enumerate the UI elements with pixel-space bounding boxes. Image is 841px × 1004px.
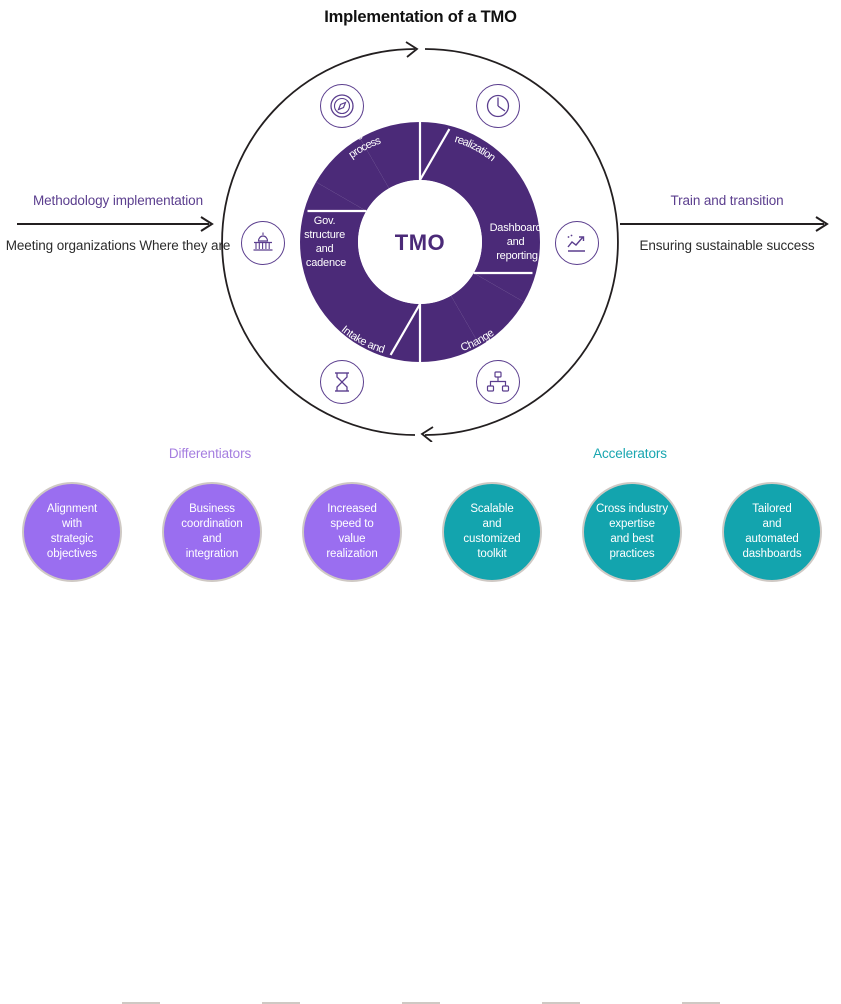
compass-icon [320, 84, 364, 128]
arrow-right-icon [3, 215, 233, 233]
left-flow-block: Methodology implementation Meeting organ… [3, 192, 233, 255]
right-flow-block: Train and transition Ensuring sustainabl… [612, 192, 841, 255]
bubble-business-coordination-and-integration[interactable]: Business coordination and integration [162, 482, 262, 582]
bubble-line: strategic [47, 532, 97, 547]
bubble-increased-speed-to-value-realization[interactable]: Increased speed to value realization [302, 482, 402, 582]
right-flow-heading: Train and transition [612, 192, 841, 210]
bubble-line: Cross industry [596, 502, 668, 517]
bubble-line: practices [596, 547, 668, 562]
bubble-line: expertise [596, 517, 668, 532]
left-flow-caption: Meeting organizations Where they are [3, 237, 233, 255]
bubble-line: dashboards [742, 547, 801, 562]
page-title: Implementation of a TMO [0, 8, 841, 27]
chart-trend-icon [555, 221, 599, 265]
bubble-line: and [742, 517, 801, 532]
bubble-tailored-and-automated-dashboards[interactable]: Tailored and automated dashboards [722, 482, 822, 582]
bubble-line: integration [181, 547, 242, 562]
clock-icon [476, 84, 520, 128]
bubble-line: objectives [47, 547, 97, 562]
bubble-alignment-with-strategic-objectives[interactable]: Alignment with strategic objectives [22, 482, 122, 582]
bubble-scalable-and-customized-toolkit[interactable]: Scalable and customized toolkit [442, 482, 542, 582]
category-label-accelerators: Accelerators [535, 446, 725, 461]
bubble-line: Business [181, 502, 242, 517]
bubble-line: coordination [181, 517, 242, 532]
bubble-line: toolkit [463, 547, 520, 562]
diagram-canvas: Implementation of a TMO Methodology impl… [0, 0, 841, 592]
bubble-line: automated [742, 532, 801, 547]
bubble-line: with [47, 517, 97, 532]
bubble-line: speed to [326, 517, 377, 532]
hourglass-icon [320, 360, 364, 404]
left-flow-heading: Methodology implementation [3, 192, 233, 210]
bubble-line: Scalable [463, 502, 520, 517]
center-label: TMO [395, 230, 445, 255]
bubble-line: Increased [326, 502, 377, 517]
right-flow-caption: Ensuring sustainable success [612, 237, 841, 255]
government-building-icon [241, 221, 285, 265]
tmo-wheel: TMO Tollgate process Value realization [210, 38, 630, 442]
bubble-line: customized [463, 532, 520, 547]
bubble-line: and best [596, 532, 668, 547]
arrow-right-icon [612, 215, 841, 233]
bubble-line: value [326, 532, 377, 547]
bubble-line: realization [326, 547, 377, 562]
org-chart-icon [476, 360, 520, 404]
bubble-line: Tailored [742, 502, 801, 517]
bubble-line: and [181, 532, 242, 547]
outcome-bubble-row: Alignment with strategic objectives Busi… [0, 472, 841, 592]
bubble-cross-industry-expertise-and-best-practices[interactable]: Cross industry expertise and best practi… [582, 482, 682, 582]
bubble-line: and [463, 517, 520, 532]
category-label-differentiators: Differentiators [115, 446, 305, 461]
bubble-line: Alignment [47, 502, 97, 517]
